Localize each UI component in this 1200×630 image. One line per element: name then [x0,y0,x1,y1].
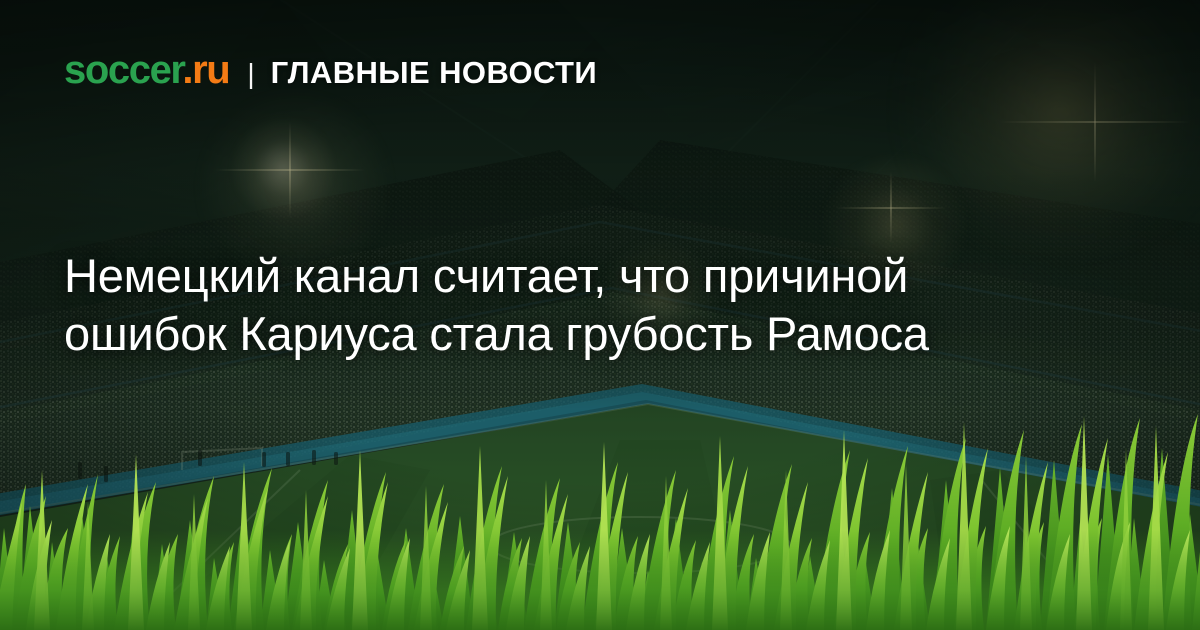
brand-header: soccer.ru | ГЛАВНЫЕ НОВОСТИ [64,50,597,90]
lens-flare-left [215,122,365,218]
header-separator: | [247,60,254,88]
article-headline: Немецкий канал считает, что причиной оши… [64,247,1074,363]
soccer-ru-logo[interactable]: soccer.ru [64,50,229,90]
lens-flare-right [1000,62,1190,182]
lens-flare-center [836,172,946,244]
floodlight-glow-upper-right [880,0,1200,260]
social-share-card: soccer.ru | ГЛАВНЫЕ НОВОСТИ Немецкий кан… [0,0,1200,630]
floodlight-glow-spark [228,118,338,218]
header-kicker: ГЛАВНЫЕ НОВОСТИ [271,57,597,88]
logo-wordmark: soccer [64,48,182,92]
logo-tld: .ru [182,48,229,92]
grass-foreground [0,410,1200,630]
